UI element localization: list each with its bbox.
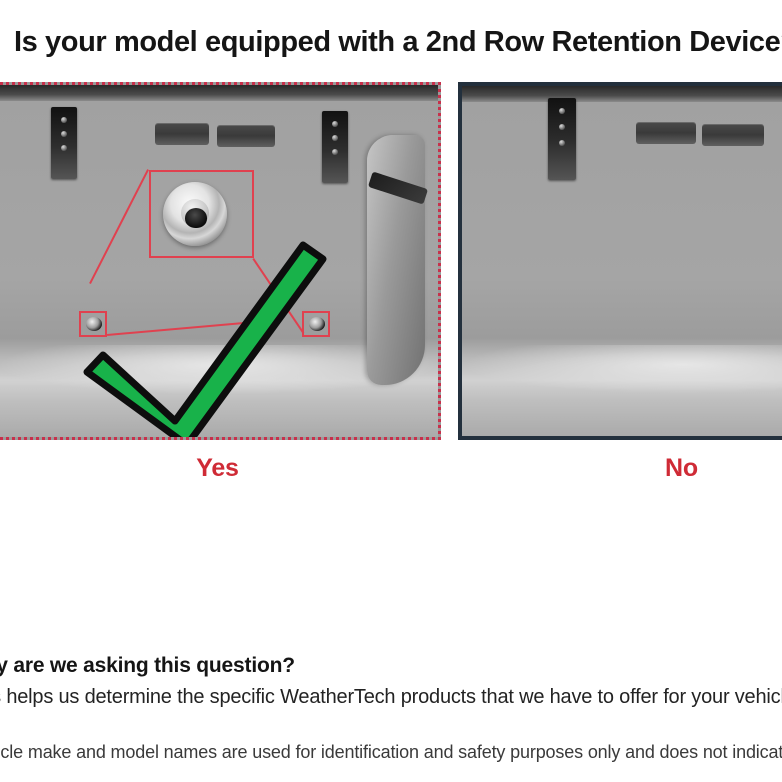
- footer-body-text: This helps us determine the specific Wea…: [0, 684, 782, 711]
- annotation-box-hole-right: [302, 311, 330, 337]
- option-yes-photo-frame[interactable]: [0, 82, 441, 440]
- option-no[interactable]: No: [458, 82, 782, 440]
- seat-bracket-left: [51, 107, 77, 179]
- floor-clip-bar-1: [155, 123, 209, 145]
- footer-heading: Why are we asking this question?: [0, 652, 782, 679]
- page-title: Is your model equipped with a 2nd Row Re…: [14, 24, 782, 60]
- floor-clip-bar-2-no: [702, 124, 764, 146]
- annotation-box-hole-left: [79, 311, 107, 337]
- annotation-box-retention-device: [149, 170, 254, 258]
- seat-bracket-right: [322, 111, 348, 183]
- option-no-photo-frame[interactable]: [458, 82, 782, 440]
- footer-info: Why are we asking this question? This he…: [0, 652, 782, 711]
- options-row: Yes No: [0, 82, 782, 502]
- option-yes[interactable]: Yes: [0, 82, 441, 440]
- option-yes-label[interactable]: Yes: [0, 454, 441, 483]
- floor-clip-bar-1-no: [636, 122, 696, 144]
- floor-clip-bar-2: [217, 125, 275, 147]
- seat-bracket-left-no: [548, 98, 576, 180]
- footer-disclaimer-text: Vehicle make and model names are used fo…: [0, 742, 782, 763]
- vehicle-option-selector-page: Is your model equipped with a 2nd Row Re…: [0, 0, 782, 782]
- option-no-label[interactable]: No: [458, 454, 782, 483]
